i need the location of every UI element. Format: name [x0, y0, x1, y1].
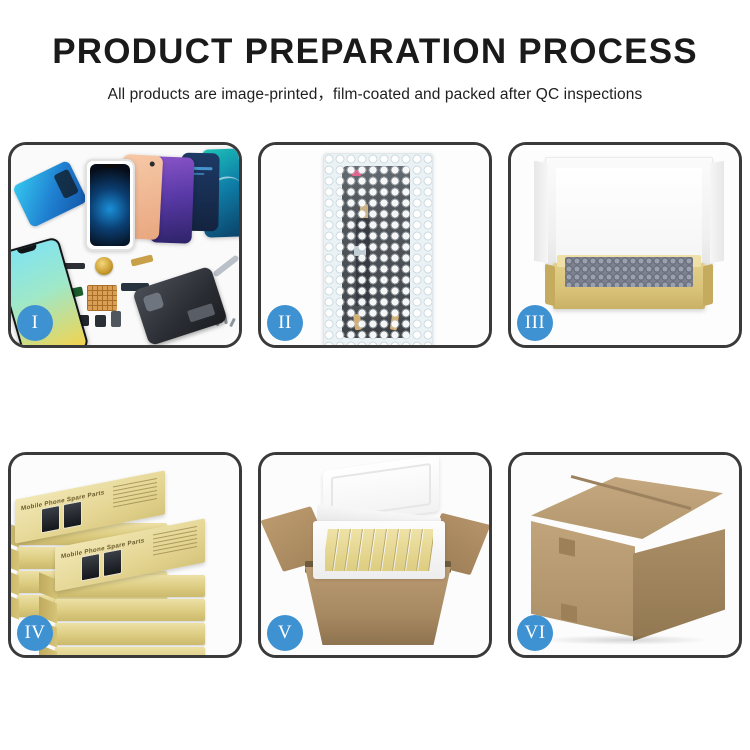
box-artwork-screen-front-1	[81, 553, 100, 582]
page-subtitle: All products are image-printed，film-coat…	[0, 82, 750, 104]
peach-phone-camera-hole	[150, 161, 155, 166]
white-bezel-phone-screen	[90, 164, 130, 246]
carton-drop-shadow	[541, 635, 711, 645]
bubble-texture	[324, 154, 432, 345]
housing-battery-plate	[187, 303, 215, 322]
page-title: PRODUCT PREPARATION PROCESS	[0, 34, 750, 69]
process-step-panel-5[interactable]: V	[258, 452, 492, 658]
box-lid-left-wing	[534, 161, 548, 263]
box-lid-right-wing	[710, 161, 724, 263]
box-spec-lines-rear	[113, 478, 157, 517]
stacked-box-front-3	[55, 623, 205, 645]
open-box-lid-image	[545, 157, 713, 271]
small-part-image-4	[111, 311, 121, 327]
grey-bubble-foam-image	[565, 257, 693, 287]
chip-array-part-image	[87, 285, 117, 311]
step-badge-1: I	[17, 305, 53, 341]
step-badge-4: IV	[17, 615, 53, 651]
step-badge-5: V	[267, 615, 303, 651]
process-step-panel-1[interactable]: I	[8, 142, 242, 348]
process-step-panel-6[interactable]: VI	[508, 452, 742, 658]
housing-camera-module	[142, 292, 164, 313]
process-step-panel-2[interactable]: II	[258, 142, 492, 348]
box-spec-lines-front	[153, 526, 197, 565]
step-badge-3: III	[517, 305, 553, 341]
white-bezel-phone-image	[85, 159, 135, 251]
process-step-panel-4[interactable]: Mobile Phone Spare Parts Mobile Phone Sp…	[8, 452, 242, 658]
step-badge-2: II	[267, 305, 303, 341]
process-step-grid: I II	[8, 142, 742, 658]
kraft-box-tray-image	[553, 263, 705, 309]
white-bezel-phone-notch	[101, 164, 119, 168]
carton-tape-mark-lower	[561, 603, 577, 622]
small-part-image-3	[95, 315, 106, 327]
tray-left-end	[545, 264, 555, 306]
stacked-box-front-4	[55, 647, 205, 655]
tray-right-end	[703, 264, 713, 306]
box-artwork-screen-front-2	[103, 549, 122, 578]
bubble-wrap-bag-image	[323, 153, 433, 345]
aqua-phone-notch	[17, 244, 38, 254]
box-artwork-screen-rear-2	[63, 501, 82, 530]
wireless-coil-part-image	[95, 257, 113, 275]
box-artwork-screen-rear-1	[41, 505, 60, 534]
page-header: PRODUCT PREPARATION PROCESS All products…	[0, 0, 750, 104]
stacked-box-front-2	[55, 599, 205, 621]
step-badge-6: VI	[517, 615, 553, 651]
carton-tape-mark-upper	[559, 537, 575, 556]
inner-retail-boxes-image	[325, 529, 433, 571]
process-step-panel-3[interactable]: III	[508, 142, 742, 348]
